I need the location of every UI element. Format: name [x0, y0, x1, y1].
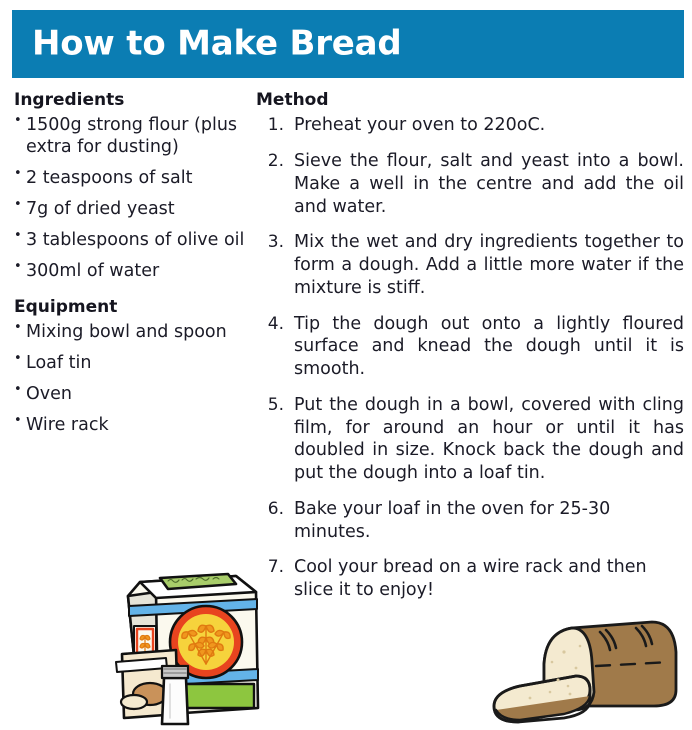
list-item: 1500g strong flour (plus extra for dusti… — [14, 114, 246, 158]
list-item: Wire rack — [14, 414, 246, 436]
ingredients-equipment-column: Ingredients 1500g strong flour (plus ext… — [14, 90, 246, 445]
method-step: Put the dough in a bowl, covered with cl… — [256, 394, 684, 485]
equipment-heading: Equipment — [14, 297, 246, 318]
list-item: 3 tablespoons of olive oil — [14, 229, 246, 251]
list-item: 7g of dried yeast — [14, 198, 246, 220]
method-step: Sieve the flour, salt and yeast into a b… — [256, 150, 684, 218]
list-item: Mixing bowl and spoon — [14, 321, 246, 343]
method-heading: Method — [256, 90, 684, 111]
method-step: Bake your loaf in the oven for 25-30 min… — [256, 498, 684, 544]
title-banner: How to Make Bread — [12, 10, 684, 78]
flour-bag-illustration — [110, 568, 270, 730]
list-item: Loaf tin — [14, 352, 246, 374]
method-step: Tip the dough out onto a lightly floured… — [256, 313, 684, 381]
bread-loaf-illustration — [484, 606, 690, 730]
method-column: Method Preheat your oven to 220oC. Sieve… — [256, 90, 684, 602]
page-title: How to Make Bread — [32, 26, 402, 60]
list-item: 300ml of water — [14, 260, 246, 282]
ingredients-heading: Ingredients — [14, 90, 246, 111]
list-item: Oven — [14, 383, 246, 405]
method-step: Mix the wet and dry ingredients together… — [256, 231, 684, 299]
method-step: Preheat your oven to 220oC. — [256, 114, 684, 137]
ingredients-list: 1500g strong flour (plus extra for dusti… — [14, 114, 246, 282]
list-item: 2 teaspoons of salt — [14, 167, 246, 189]
equipment-list: Mixing bowl and spoon Loaf tin Oven Wire… — [14, 321, 246, 436]
method-step: Cool your bread on a wire rack and then … — [256, 556, 684, 602]
method-list: Preheat your oven to 220oC. Sieve the fl… — [256, 114, 684, 602]
